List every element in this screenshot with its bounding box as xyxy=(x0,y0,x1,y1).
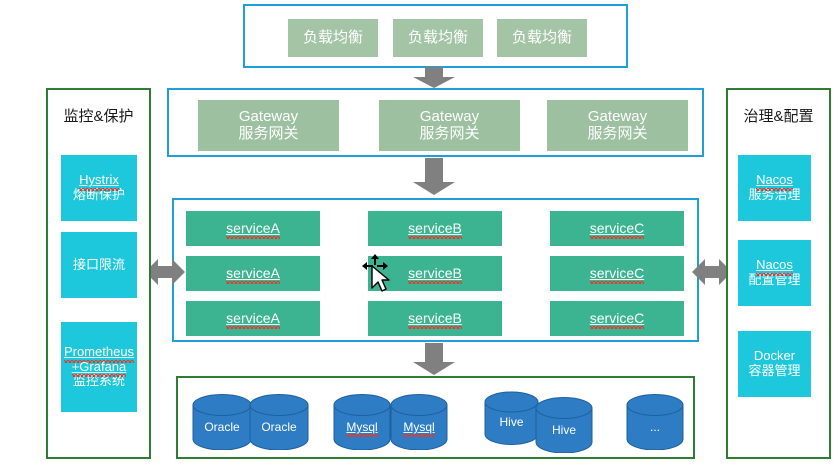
load-balancer-label: 负载均衡 xyxy=(303,30,363,47)
arrow-left-sidebar-to-services xyxy=(145,256,185,288)
database-cylinder-more[interactable]: ... xyxy=(626,394,684,450)
arrow-gateway-to-services xyxy=(412,158,456,196)
database-cylinder-hive-1[interactable]: Hive xyxy=(484,391,539,445)
service-box-b1[interactable]: serviceB xyxy=(368,211,502,246)
database-cylinder-hive-2[interactable]: Hive xyxy=(535,397,593,453)
service-box-b3[interactable]: serviceB xyxy=(368,301,502,336)
database-cylinder-oracle-1[interactable]: Oracle xyxy=(192,394,252,450)
service-box-a1[interactable]: serviceA xyxy=(186,211,320,246)
sidebar-item-label-en2: +Grafana xyxy=(72,360,127,375)
service-label: serviceC xyxy=(590,221,644,237)
sidebar-item-nacos-discovery[interactable]: Nacos 服务治理 xyxy=(738,155,811,221)
load-balancer-box-3[interactable]: 负载均衡 xyxy=(497,19,587,57)
sidebar-item-rate-limit[interactable]: 接口限流 xyxy=(61,232,137,298)
sidebar-item-prometheus-grafana[interactable]: Prometheus +Grafana 监控系统 xyxy=(61,322,137,412)
load-balancer-label: 负载均衡 xyxy=(408,30,468,47)
service-label: serviceA xyxy=(226,221,280,237)
sidebar-item-label-cn: 接口限流 xyxy=(73,258,125,273)
database-label: Hive xyxy=(535,423,593,437)
service-label: serviceA xyxy=(226,266,280,282)
sidebar-item-hystrix[interactable]: Hystrix 熔断保护 xyxy=(61,155,137,221)
service-label: serviceB xyxy=(408,221,462,237)
gateway-box-2[interactable]: Gateway 服务网关 xyxy=(379,100,520,151)
sidebar-item-label-en: Nacos xyxy=(756,258,793,273)
database-label: Mysql xyxy=(346,420,377,434)
database-cylinder-oracle-2[interactable]: Oracle xyxy=(249,394,309,450)
database-label: ... xyxy=(626,420,684,434)
service-box-b2[interactable]: serviceB xyxy=(368,256,502,291)
database-cylinder-mysql-1[interactable]: Mysql xyxy=(333,394,391,450)
left-sidebar-title: 监控&保护 xyxy=(46,105,151,126)
service-label: serviceB xyxy=(408,311,462,327)
service-label: serviceA xyxy=(226,311,280,327)
arrow-services-to-databases xyxy=(412,343,456,376)
gateway-box-1[interactable]: Gateway 服务网关 xyxy=(198,100,339,151)
service-box-c2[interactable]: serviceC xyxy=(550,256,684,291)
sidebar-item-label-en: Docker xyxy=(754,349,795,364)
load-balancer-label: 负载均衡 xyxy=(512,30,572,47)
database-cylinder-mysql-2[interactable]: Mysql xyxy=(390,394,448,450)
service-label: serviceC xyxy=(590,266,644,282)
database-label: Hive xyxy=(484,415,539,429)
gateway-label-cn: 服务网关 xyxy=(238,126,298,143)
architecture-diagram-canvas: { "colors": { "panel_blue": "#1e9fd8", "… xyxy=(0,0,840,474)
arrow-loadbalancer-to-gateway xyxy=(412,67,456,89)
database-label: Oracle xyxy=(192,420,252,434)
service-box-c3[interactable]: serviceC xyxy=(550,301,684,336)
sidebar-item-label-en1: Prometheus xyxy=(64,345,134,360)
service-box-c1[interactable]: serviceC xyxy=(550,211,684,246)
sidebar-item-nacos-config[interactable]: Nacos 配置管理 xyxy=(738,240,811,306)
right-sidebar-title: 治理&配置 xyxy=(726,105,831,126)
database-label: Mysql xyxy=(403,420,434,434)
gateway-label-en: Gateway xyxy=(420,109,479,126)
gateway-label-cn: 服务网关 xyxy=(587,126,647,143)
service-label: serviceC xyxy=(590,311,644,327)
gateway-label-en: Gateway xyxy=(588,109,647,126)
service-box-a3[interactable]: serviceA xyxy=(186,301,320,336)
service-label: serviceB xyxy=(408,266,462,282)
load-balancer-box-1[interactable]: 负载均衡 xyxy=(288,19,378,57)
sidebar-item-label-cn: 容器管理 xyxy=(748,364,800,379)
sidebar-item-label-en: Nacos xyxy=(756,173,793,188)
sidebar-item-docker[interactable]: Docker 容器管理 xyxy=(738,331,811,397)
database-label: Oracle xyxy=(249,420,309,434)
sidebar-item-label-en: Hystrix xyxy=(79,173,119,188)
load-balancer-box-2[interactable]: 负载均衡 xyxy=(393,19,483,57)
gateway-box-3[interactable]: Gateway 服务网关 xyxy=(547,100,688,151)
service-box-a2[interactable]: serviceA xyxy=(186,256,320,291)
gateway-label-cn: 服务网关 xyxy=(419,126,479,143)
gateway-label-en: Gateway xyxy=(239,109,298,126)
